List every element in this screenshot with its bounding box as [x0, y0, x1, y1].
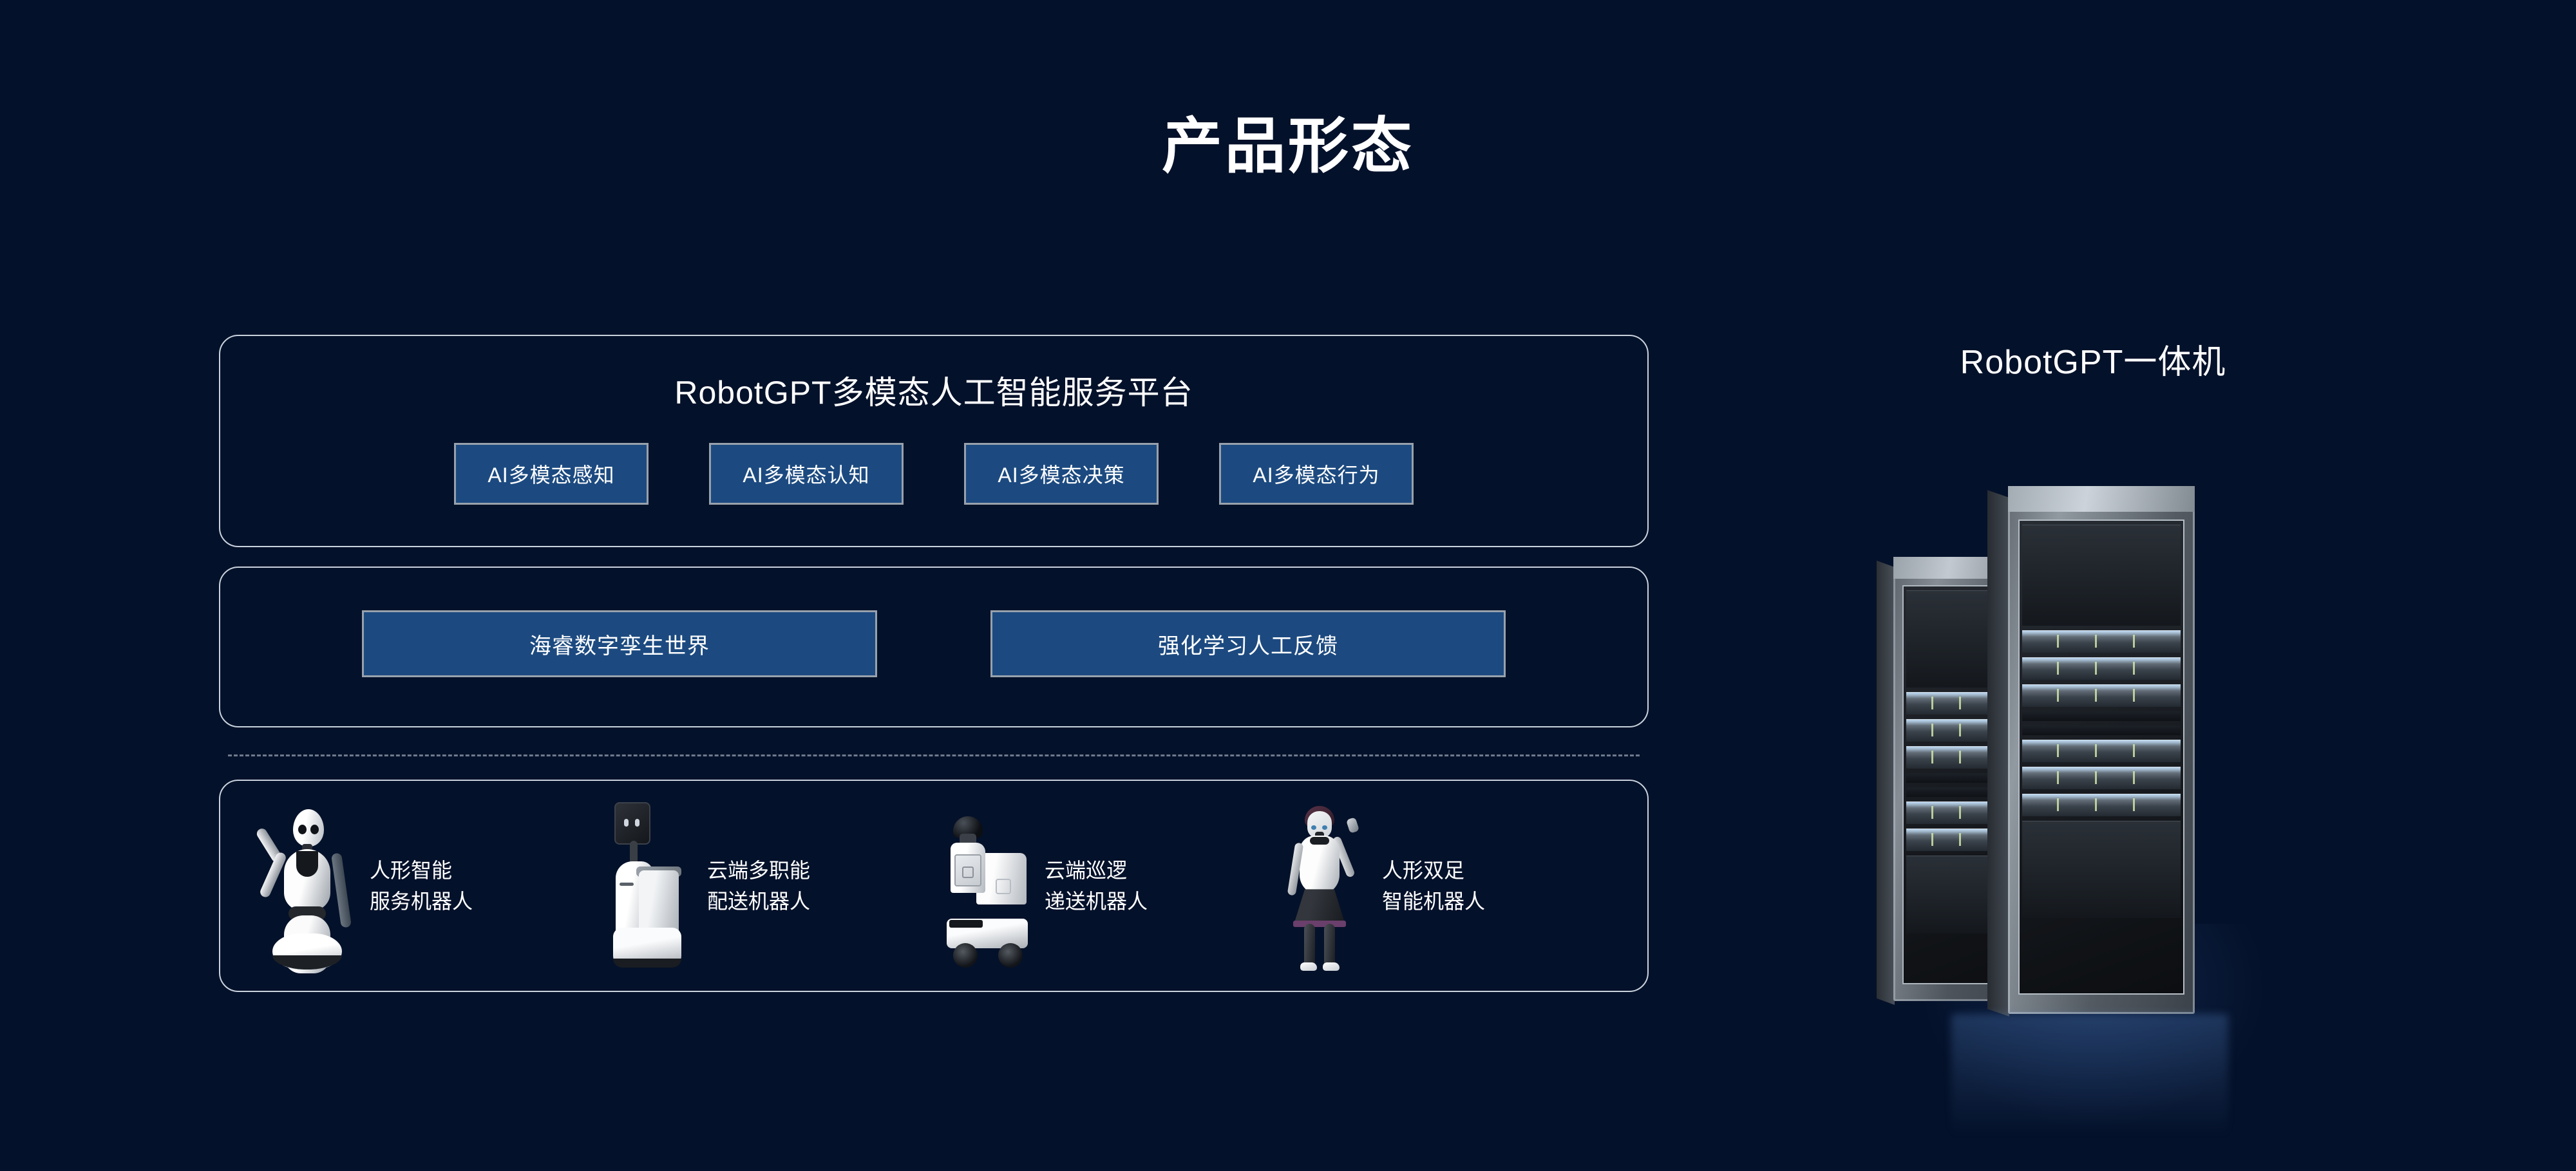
section-divider: [228, 754, 1640, 756]
robot-label-line2: 配送机器人: [707, 886, 810, 917]
server-rack-pair-icon: [1893, 460, 2293, 1065]
platform-architecture-column: RobotGPT多模态人工智能服务平台 AI多模态感知 AI多模态认知 AI多模…: [219, 335, 1649, 992]
robot-product-item[interactable]: 人形双足 智能机器人: [1271, 799, 1609, 973]
robot-label-line1: 云端多职能: [707, 855, 810, 886]
page-title-text: 产品形态: [1162, 116, 1414, 176]
robot-product-row: 人形智能 服务机器人: [220, 781, 1647, 991]
capability-chip-behavior[interactable]: AI多模态行为: [1219, 443, 1414, 505]
appliance-title: RobotGPT一体机: [1868, 335, 2318, 383]
engine-button-rlhf[interactable]: 强化学习人工反馈: [990, 610, 1506, 677]
robot-label-line1: 云端巡逻: [1045, 855, 1148, 886]
capability-chip-perception[interactable]: AI多模态感知: [454, 443, 649, 505]
server-rack-front: [2008, 486, 2195, 1014]
engine-button-row: 海睿数字孪生世界 强化学习人工反馈: [220, 610, 1647, 677]
engine-panel: 海睿数字孪生世界 强化学习人工反馈: [219, 567, 1649, 727]
page-title: 产品形态: [0, 116, 2576, 176]
capability-chip-row: AI多模态感知 AI多模态认知 AI多模态决策 AI多模态行为: [220, 443, 1647, 505]
rack-floor-reflection: [1951, 1014, 2228, 1136]
robot-label-line2: 智能机器人: [1382, 886, 1485, 917]
robot-label-line2: 递送机器人: [1045, 886, 1148, 917]
robot-product-label: 云端多职能 配送机器人: [707, 855, 810, 917]
capability-chip-decision[interactable]: AI多模态决策: [964, 443, 1159, 505]
cloud-delivery-robot-icon: [596, 799, 693, 973]
robot-label-line1: 人形智能: [370, 855, 473, 886]
platform-heading: RobotGPT多模态人工智能服务平台: [220, 367, 1647, 413]
robot-product-item[interactable]: 云端多职能 配送机器人: [596, 799, 934, 973]
robot-label-line1: 人形双足: [1382, 855, 1485, 886]
bipedal-humanoid-robot-icon: [1271, 799, 1368, 973]
capability-chip-cognition[interactable]: AI多模态认知: [709, 443, 904, 505]
robot-product-item[interactable]: 人形智能 服务机器人: [259, 799, 596, 973]
robot-product-label: 人形双足 智能机器人: [1382, 855, 1485, 917]
patrol-delivery-vehicle-icon: [934, 799, 1030, 973]
humanoid-service-robot-icon: [259, 799, 355, 973]
engine-button-digital-twin[interactable]: 海睿数字孪生世界: [362, 610, 877, 677]
appliance-column: RobotGPT一体机: [1868, 335, 2318, 1065]
robot-products-panel: 人形智能 服务机器人: [219, 780, 1649, 992]
robot-label-line2: 服务机器人: [370, 886, 473, 917]
robot-product-label: 人形智能 服务机器人: [370, 855, 473, 917]
platform-panel: RobotGPT多模态人工智能服务平台 AI多模态感知 AI多模态认知 AI多模…: [219, 335, 1649, 547]
slide-canvas: 产品形态 RobotGPT多模态人工智能服务平台 AI多模态感知 AI多模态认知…: [0, 0, 2576, 1171]
robot-product-item[interactable]: 云端巡逻 递送机器人: [934, 799, 1271, 973]
robot-product-label: 云端巡逻 递送机器人: [1045, 855, 1148, 917]
